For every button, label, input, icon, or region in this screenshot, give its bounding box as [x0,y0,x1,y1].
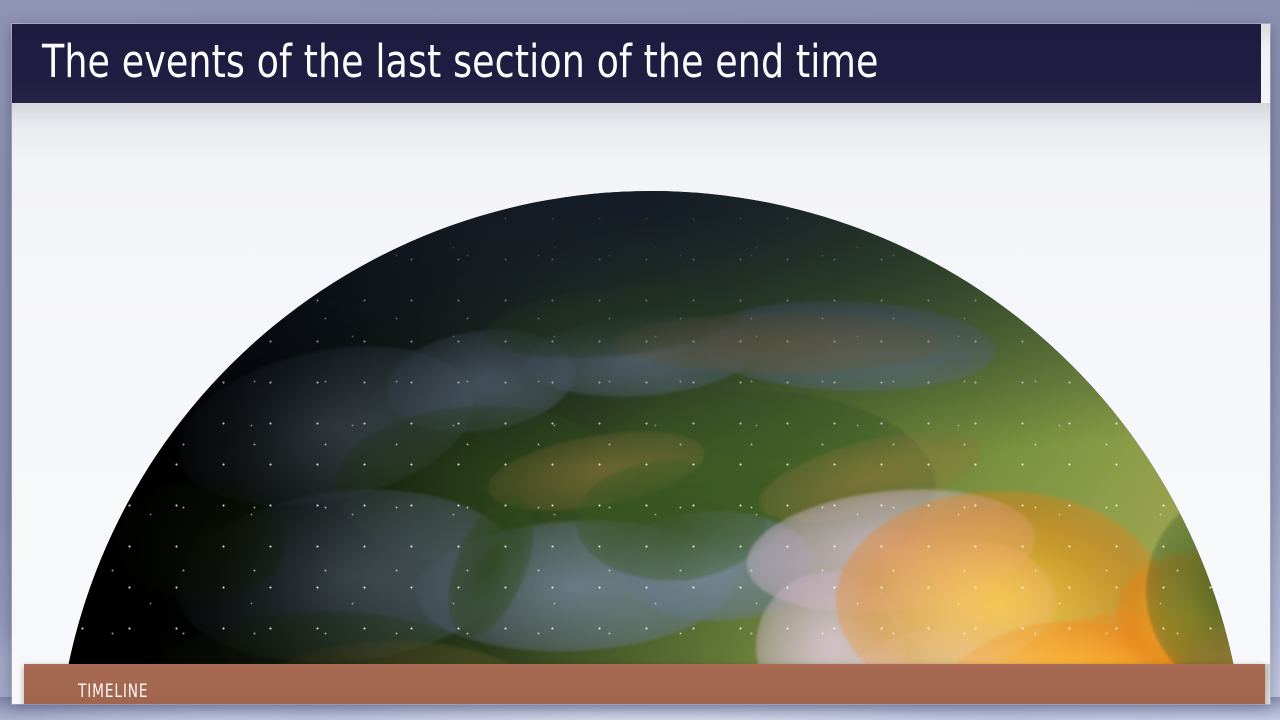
slide-title: The events of the last section of the en… [42,33,879,91]
slide-root: The events of the last section of the en… [0,0,1280,720]
timeline-label: TIMELINE [78,680,148,703]
slide-picture-stage [12,103,1270,704]
timeline-bar-edge [1265,664,1270,704]
slide-card: The events of the last section of the en… [12,24,1270,704]
earth-globe-image [56,191,1246,704]
globe-limb-shading [56,191,1246,704]
timeline-caption-bar[interactable]: TIMELINE [24,664,1265,704]
slide-title-bar: The events of the last section of the en… [12,24,1261,103]
